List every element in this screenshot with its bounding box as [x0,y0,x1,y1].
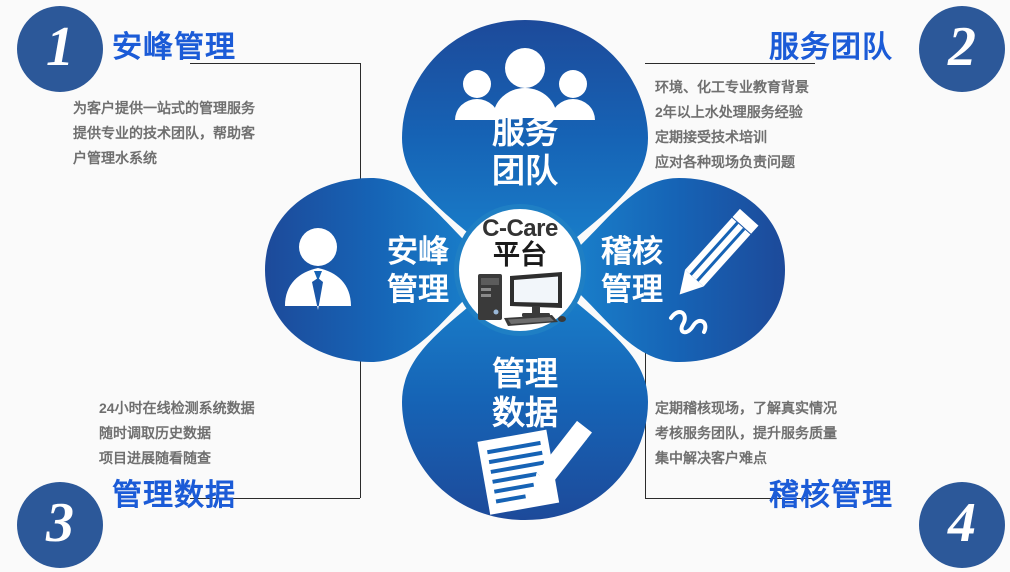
section-body-3-line: 24小时在线检测系统数据 [99,396,255,421]
section-badge-3[interactable]: 3 [17,482,103,568]
petal-right-label-line1: 稽核 [601,234,663,269]
section-badge-4-number: 4 [948,495,976,551]
section-title-1: 安峰管理 [112,22,236,66]
section-body-1: 为客户提供一站式的管理服务 提供专业的技术团队，帮助客 户管理水系统 [73,96,255,171]
petal-left-label-line2: 管理 [387,272,449,307]
section-body-2-line: 定期接受技术培训 [655,125,809,150]
section-body-4-line: 考核服务团队，提升服务质量 [655,421,837,446]
section-body-3-line: 项目进展随看随查 [99,446,255,471]
infographic-canvas: 服务 团队 管理 数据 [0,0,1010,572]
section-body-3: 24小时在线检测系统数据 随时调取历史数据 项目进展随看随查 [99,396,255,471]
section-title-3: 管理数据 [112,470,236,514]
section-body-2: 环境、化工专业教育背景 2年以上水处理服务经验 定期接受技术培训 应对各种现场负… [655,75,809,175]
section-body-4-line: 定期稽核现场，了解真实情况 [655,396,837,421]
section-badge-3-number: 3 [46,495,74,551]
section-body-1-line: 户管理水系统 [73,146,255,171]
section-body-2-line: 2年以上水处理服务经验 [655,100,809,125]
petal-top-label-line1: 服务 [492,113,558,150]
petal-bottom-label-line1: 管理 [492,355,558,392]
section-badge-1-number: 1 [46,19,74,75]
center-title: C-Care [482,217,558,241]
section-body-1-line: 为客户提供一站式的管理服务 [73,96,255,121]
section-badge-1[interactable]: 1 [17,6,103,92]
center-subtitle: 平台 [493,242,547,269]
desktop-computer-icon [474,270,566,328]
section-body-4: 定期稽核现场，了解真实情况 考核服务团队，提升服务质量 集中解决客户难点 [655,396,837,471]
petal-left-label-line1: 安峰 [387,234,449,269]
section-title-4: 稽核管理 [769,470,893,514]
section-body-2-line: 应对各种现场负责问题 [655,150,809,175]
section-body-1-line: 提供专业的技术团队，帮助客 [73,121,255,146]
section-body-4-line: 集中解决客户难点 [655,446,837,471]
section-badge-4[interactable]: 4 [919,482,1005,568]
center-platform-badge[interactable]: C-Care 平台 [454,204,586,336]
section-body-3-line: 随时调取历史数据 [99,421,255,446]
section-body-2-line: 环境、化工专业教育背景 [655,75,809,100]
section-title-2: 服务团队 [769,22,893,66]
section-badge-2-number: 2 [948,19,976,75]
petal-right-label-line2: 管理 [601,272,663,307]
petal-top-label-line2: 团队 [492,152,559,189]
petal-bottom-label-line2: 数据 [492,394,558,431]
section-badge-2[interactable]: 2 [919,6,1005,92]
